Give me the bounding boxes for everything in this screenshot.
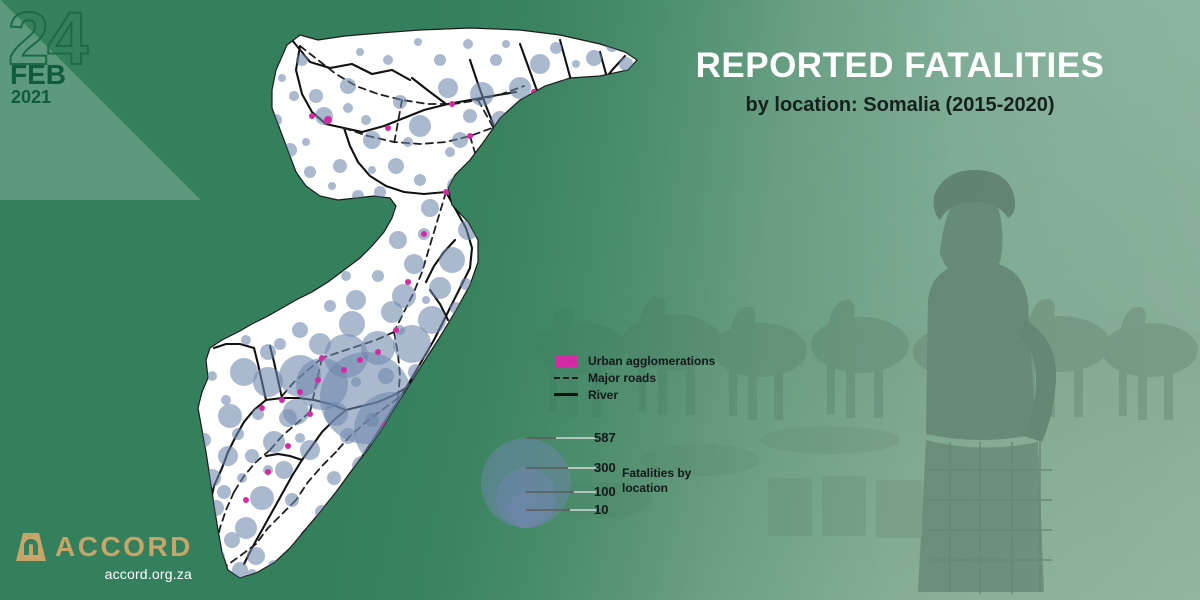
legend-size-value-300: 300 <box>594 460 616 475</box>
page-subtitle: by location: Somalia (2015-2020) <box>620 94 1180 117</box>
legend-bubble-circles <box>481 438 571 528</box>
legend-item-roads: Major roads <box>552 369 715 386</box>
legend-label-urban: Urban agglomerations <box>588 354 715 368</box>
accord-wordmark: ACCORD <box>55 533 193 561</box>
legend-label-roads: Major roads <box>588 371 656 385</box>
date-year: 2021 <box>11 87 51 108</box>
urban-agglomeration-icon <box>552 355 580 367</box>
legend-item-urban: Urban agglomerations <box>552 352 715 369</box>
infographic-canvas: 24 FEB 2021 REPORTED FATALITIES by locat… <box>0 0 1200 600</box>
legend-size-value-10: 10 <box>594 502 608 517</box>
legend-item-river: River <box>552 386 715 403</box>
river-icon <box>552 393 580 396</box>
accord-branding[interactable]: ACCORD accord.org.za <box>16 533 193 582</box>
legend-bubble-size: 587 300 100 10 Fatalities by location <box>478 428 708 538</box>
legend-size-value-587: 587 <box>594 430 616 445</box>
legend-label-river: River <box>588 388 618 402</box>
legend-size-caption: Fatalities by location <box>622 466 712 496</box>
headline-block: REPORTED FATALITIES by location: Somalia… <box>620 48 1180 117</box>
accord-logo-icon <box>16 533 46 561</box>
legend-categories: Urban agglomerations Major roads River <box>552 352 715 403</box>
page-title: REPORTED FATALITIES <box>620 48 1180 85</box>
date-badge: 24 FEB 2021 <box>0 0 200 200</box>
major-road-icon <box>552 377 580 379</box>
accord-url[interactable]: accord.org.za <box>16 566 192 582</box>
legend-size-value-100: 100 <box>594 484 616 499</box>
